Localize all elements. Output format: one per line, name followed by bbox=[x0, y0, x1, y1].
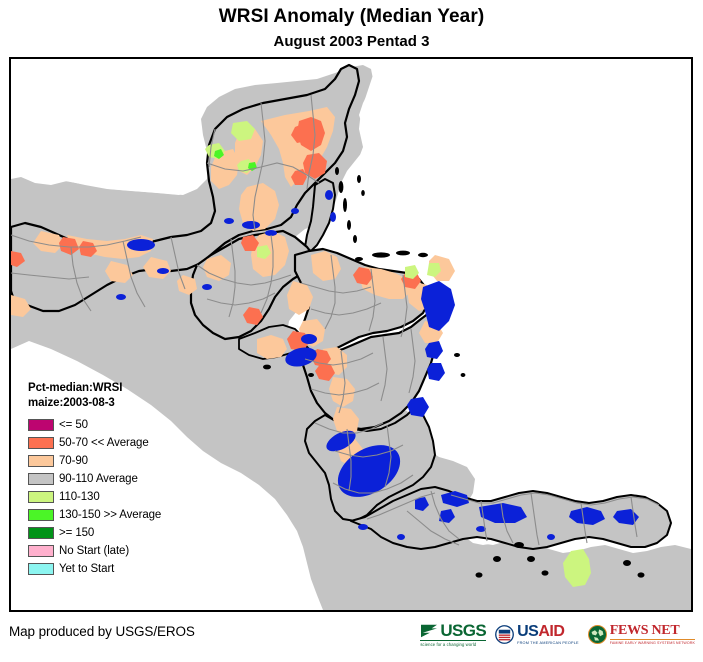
legend-swatch bbox=[28, 545, 54, 557]
legend-swatch bbox=[28, 419, 54, 431]
page-subtitle: August 2003 Pentad 3 bbox=[0, 32, 703, 51]
title-block: WRSI Anomaly (Median Year) August 2003 P… bbox=[0, 0, 703, 51]
fewsnet-logo: FEWS NET FAMINE EARLY WARNING SYSTEMS NE… bbox=[588, 624, 695, 645]
fewsnet-tagline: FAMINE EARLY WARNING SYSTEMS NETWORK bbox=[610, 639, 695, 645]
legend-row: 110-130 bbox=[20, 488, 230, 506]
map-legend: Pct-median:WRSI maize:2003-08-3 <= 5050-… bbox=[20, 381, 230, 578]
legend-row: 130-150 >> Average bbox=[20, 506, 230, 524]
legend-label: Yet to Start bbox=[59, 563, 114, 575]
usgs-logo: USGS science for a changing world bbox=[420, 622, 486, 647]
legend-row: No Start (late) bbox=[20, 542, 230, 560]
legend-swatch bbox=[28, 473, 54, 485]
fewsnet-globe-icon bbox=[588, 625, 607, 644]
legend-row: 70-90 bbox=[20, 452, 230, 470]
legend-rows: <= 5050-70 << Average70-9090-110 Average… bbox=[20, 416, 230, 578]
legend-swatch bbox=[28, 455, 54, 467]
legend-row: >= 150 bbox=[20, 524, 230, 542]
legend-label: 70-90 bbox=[59, 455, 88, 467]
usaid-logo: USAID FROM THE AMERICAN PEOPLE bbox=[495, 624, 579, 645]
page-title: WRSI Anomaly (Median Year) bbox=[0, 5, 703, 28]
legend-row: <= 50 bbox=[20, 416, 230, 434]
legend-label: 50-70 << Average bbox=[59, 437, 149, 449]
fewsnet-wordmark: FEWS NET bbox=[610, 624, 695, 638]
legend-swatch bbox=[28, 509, 54, 521]
legend-label: <= 50 bbox=[59, 419, 88, 431]
legend-swatch bbox=[28, 437, 54, 449]
map-frame[interactable]: Pct-median:WRSI maize:2003-08-3 <= 5050-… bbox=[9, 57, 693, 612]
usgs-wave-icon bbox=[420, 623, 438, 639]
legend-title-line2: maize:2003-08-3 bbox=[28, 396, 230, 411]
usaid-seal-icon bbox=[495, 625, 514, 644]
produced-by-label: Map produced by USGS/EROS bbox=[9, 624, 195, 639]
usgs-wordmark: USGS bbox=[440, 622, 486, 639]
legend-row: Yet to Start bbox=[20, 560, 230, 578]
legend-title-line1: Pct-median:WRSI bbox=[28, 381, 230, 396]
legend-label: 110-130 bbox=[59, 491, 100, 503]
legend-label: >= 150 bbox=[59, 527, 94, 539]
legend-swatch bbox=[28, 527, 54, 539]
legend-row: 90-110 Average bbox=[20, 470, 230, 488]
legend-label: 90-110 Average bbox=[59, 473, 138, 485]
legend-swatch bbox=[28, 563, 54, 575]
legend-label: 130-150 >> Average bbox=[59, 509, 161, 521]
legend-row: 50-70 << Average bbox=[20, 434, 230, 452]
legend-label: No Start (late) bbox=[59, 545, 129, 557]
usaid-wordmark-aid: AID bbox=[538, 623, 564, 640]
usaid-wordmark-us: US bbox=[517, 623, 538, 640]
usgs-tagline: science for a changing world bbox=[420, 640, 486, 647]
usaid-tagline: FROM THE AMERICAN PEOPLE bbox=[517, 641, 579, 645]
legend-swatch bbox=[28, 491, 54, 503]
logo-row: USGS science for a changing world USAID … bbox=[420, 622, 695, 647]
